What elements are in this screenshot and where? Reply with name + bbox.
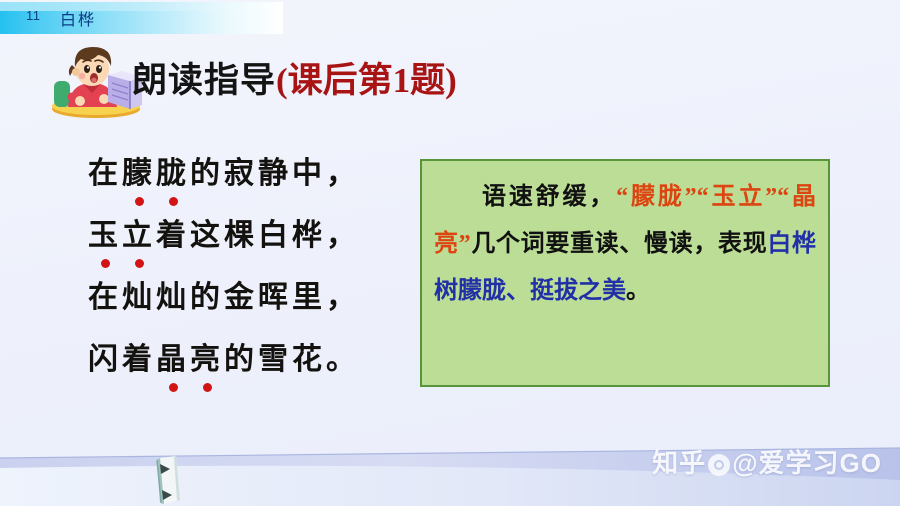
slide-canvas: 11 白桦 [0, 0, 900, 506]
bottom-ribbon [0, 444, 900, 506]
guidance-segment: 几个词要重读、慢读，表现 [471, 231, 768, 257]
poem-line-text: 在灿灿的金晖里， [88, 276, 360, 320]
lesson-title: 白桦 [60, 6, 96, 30]
page-title-suffix: (课后第1题) [276, 61, 457, 100]
emphasis-dot-row [88, 320, 388, 334]
emphasis-dot [101, 259, 110, 268]
poem-line-text: 在朦胧的寂静中， [88, 152, 360, 196]
poem-line: 闪着晶亮的雪花。 [88, 338, 388, 400]
pencil-icon [148, 456, 188, 504]
emphasis-dot [169, 383, 178, 392]
page-title-main: 朗读指导 [132, 61, 276, 100]
emphasis-dot [169, 197, 178, 206]
emphasis-dot-row [88, 258, 388, 272]
guidance-segment: “朦胧” [616, 184, 697, 210]
emphasis-dot [135, 197, 144, 206]
lesson-number: 11 [26, 8, 41, 23]
emphasis-dot-row [88, 382, 388, 396]
poem-block: 在朦胧的寂静中， 玉立着这棵白桦， 在灿灿的金晖里， 闪着晶亮的雪花。 [88, 152, 388, 400]
poem-line: 在灿灿的金晖里， [88, 276, 388, 338]
reading-guidance-box: 语速舒缓，“朦胧”“玉立”“晶亮”几个词要重读、慢读，表现白桦树朦胧、挺拔之美。 [420, 159, 830, 387]
poem-line: 在朦胧的寂静中， [88, 152, 388, 214]
guidance-segment: 语速舒缓， [482, 184, 616, 210]
reading-guidance-text: 语速舒缓，“朦胧”“玉立”“晶亮”几个词要重读、慢读，表现白桦树朦胧、挺拔之美。 [422, 161, 828, 315]
header-bar-highlight [0, 2, 283, 11]
lesson-header-bar [0, 2, 283, 34]
guidance-segment: 。 [626, 278, 650, 304]
emphasis-dot-row [88, 196, 388, 210]
poem-line: 玉立着这棵白桦， [88, 214, 388, 276]
poem-line-text: 闪着晶亮的雪花。 [88, 338, 360, 382]
guidance-segment: “玉立” [697, 184, 778, 210]
page-title: 朗读指导(课后第1题) [132, 58, 457, 103]
emphasis-dot [135, 259, 144, 268]
poem-line-text: 玉立着这棵白桦， [88, 214, 360, 258]
emphasis-dot [203, 383, 212, 392]
